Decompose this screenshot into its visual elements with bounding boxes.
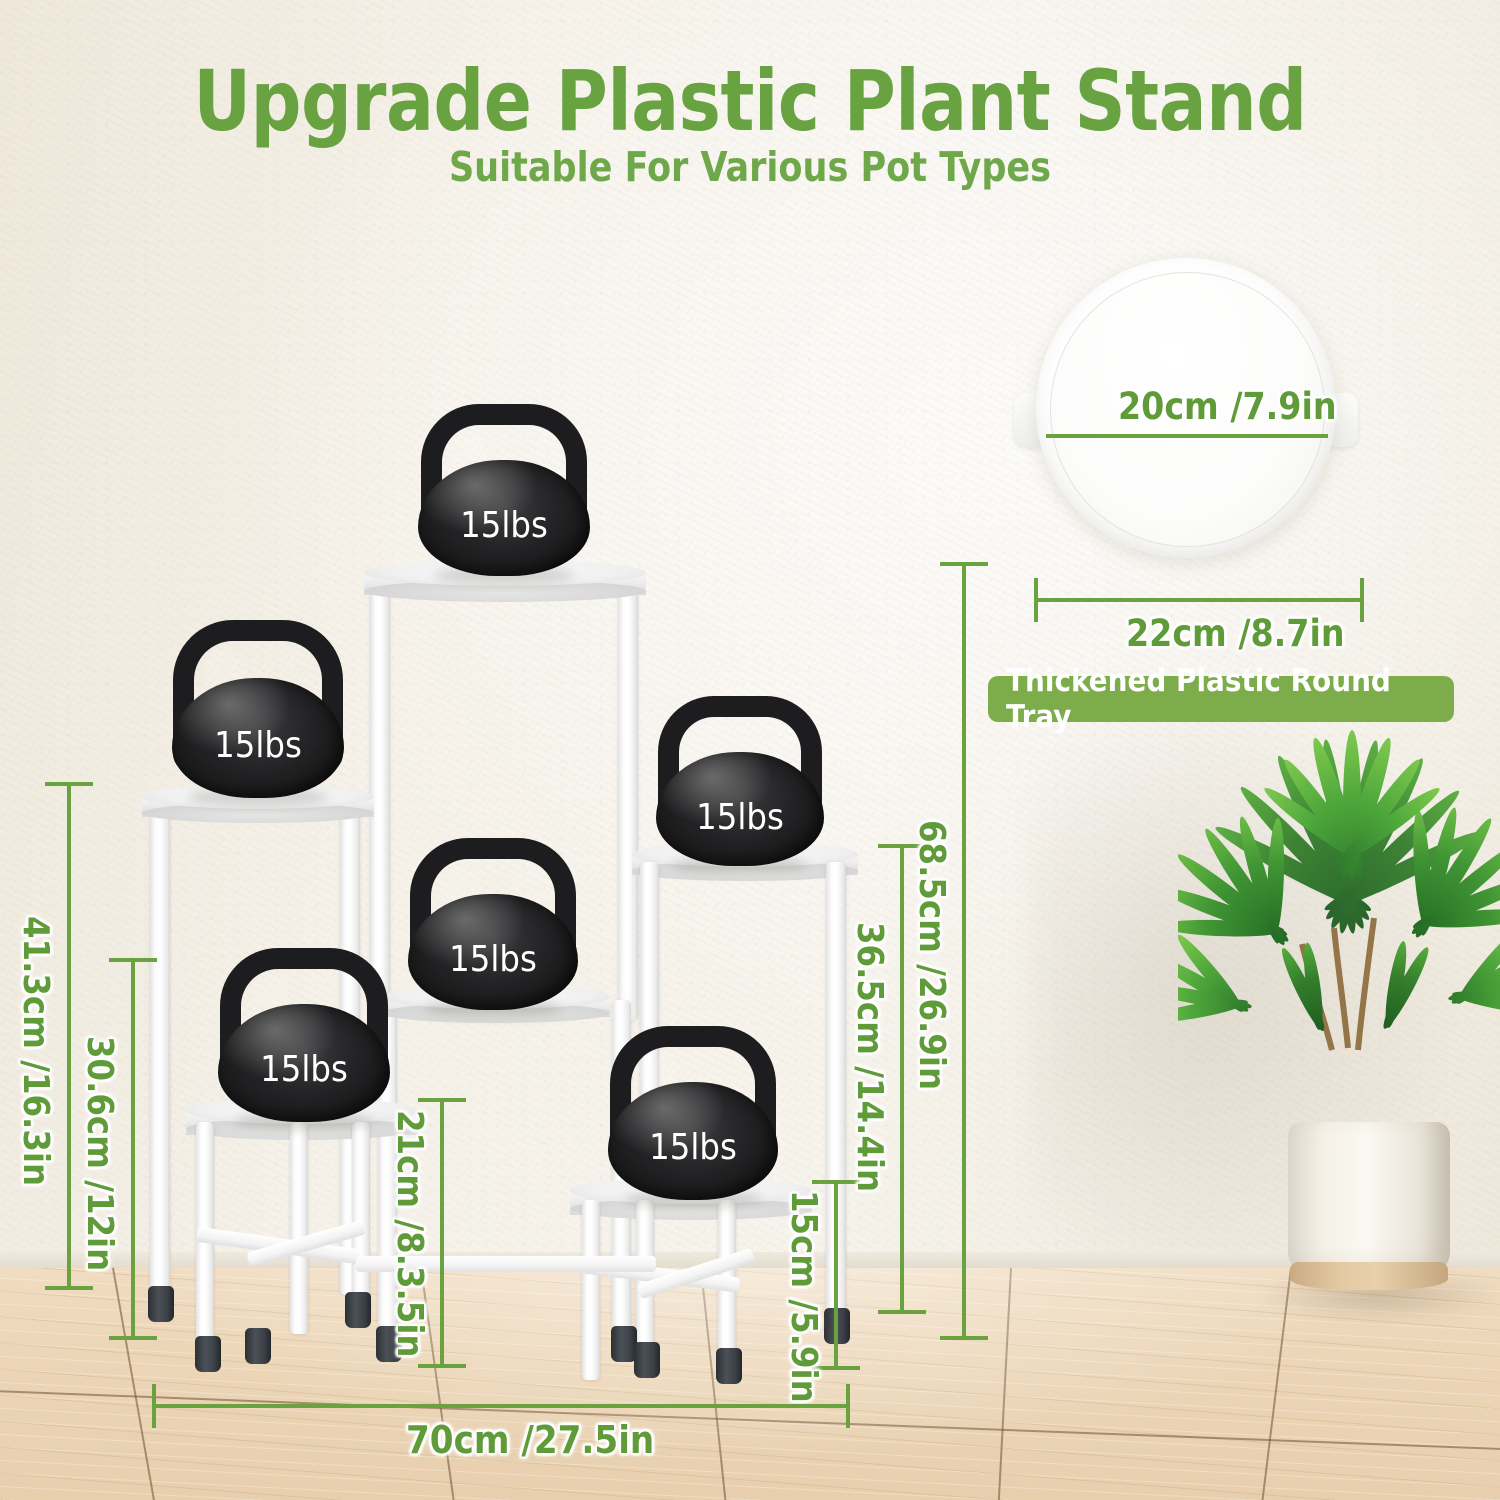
dim-line-right-upper bbox=[900, 844, 904, 1314]
kettlebell-top: 15lbs bbox=[418, 404, 590, 576]
dim-tick-left-outer-top bbox=[45, 782, 93, 786]
kettlebell-center-mid-label: 15lbs bbox=[408, 939, 578, 980]
dim-tick-total-height-bot bbox=[940, 1336, 988, 1340]
dim-line-left-inner bbox=[131, 958, 135, 1340]
kettlebell-right-mid-label: 15lbs bbox=[656, 797, 824, 838]
foot-right-b bbox=[716, 1348, 742, 1384]
dim-label-left-inner: 30.6cm /12in bbox=[79, 1036, 120, 1271]
dim-line-left-outer bbox=[67, 782, 71, 1290]
page-subtitle: Suitable For Various Pot Types bbox=[38, 143, 1463, 191]
dim-line-total-height bbox=[962, 562, 966, 1340]
foot-left-outer bbox=[148, 1286, 174, 1322]
kettlebell-left-lower-label: 15lbs bbox=[218, 1049, 390, 1090]
dim-tick-width-left bbox=[152, 1384, 156, 1428]
dim-tick-center-top bbox=[418, 1098, 466, 1102]
tray-outer-width-line bbox=[1034, 598, 1364, 602]
tray-width-tick-right bbox=[1360, 578, 1364, 622]
dim-tick-total-height-top bbox=[940, 562, 988, 566]
kettlebell-left-upper-label: 15lbs bbox=[172, 725, 344, 766]
tray-badge: Thickened Plastic Round Tray bbox=[988, 676, 1454, 722]
dim-line-center bbox=[440, 1098, 444, 1368]
dim-label-right-low: 15cm /5.9in bbox=[783, 1190, 824, 1403]
left-lower-post-b bbox=[290, 1122, 308, 1334]
center-post-right bbox=[618, 575, 638, 1020]
dim-tick-left-outer-bot bbox=[45, 1286, 93, 1290]
tray-width-tick-left bbox=[1034, 578, 1038, 622]
foot-left-a bbox=[195, 1336, 221, 1372]
product-infographic: Upgrade Plastic Plant Stand Suitable For… bbox=[0, 0, 1500, 1500]
dim-label-left-outer: 41.3cm /16.3in bbox=[15, 916, 56, 1186]
dim-tick-center-bot bbox=[418, 1364, 466, 1368]
dim-label-width: 70cm /27.5in bbox=[406, 1418, 654, 1462]
dim-tick-width-right bbox=[846, 1384, 850, 1428]
kettlebell-right-lower-label: 15lbs bbox=[608, 1127, 778, 1168]
tray-inner-diameter-label: 20cm /7.9in bbox=[1118, 385, 1337, 428]
dim-label-right-upper: 36.5cm /14.4in bbox=[849, 922, 890, 1192]
tray-badge-label: Thickened Plastic Round Tray bbox=[1006, 663, 1436, 735]
kettlebell-right-lower: 15lbs bbox=[608, 1026, 778, 1200]
dim-label-total-height: 68.5cm /26.9in bbox=[911, 820, 952, 1090]
kettlebell-center-mid: 15lbs bbox=[408, 838, 578, 1010]
page-title: Upgrade Plastic Plant Stand bbox=[45, 52, 1455, 150]
left-post-outer bbox=[150, 800, 170, 1290]
foot-right-a bbox=[634, 1342, 660, 1378]
dim-label-center: 21cm /8.3.5in bbox=[389, 1110, 430, 1357]
dim-tick-right-upper-bot bbox=[878, 1310, 926, 1314]
dim-line-width bbox=[152, 1404, 850, 1408]
dim-tick-left-inner-top bbox=[109, 958, 157, 962]
foot-left-c bbox=[345, 1292, 371, 1328]
right-lower-post-a bbox=[582, 1200, 600, 1380]
kettlebell-left-upper: 15lbs bbox=[172, 620, 344, 798]
kettlebell-top-label: 15lbs bbox=[418, 505, 590, 546]
foot-left-b bbox=[245, 1328, 271, 1364]
dim-line-right-low bbox=[834, 1180, 838, 1370]
tray-inner-diameter-line bbox=[1046, 434, 1328, 438]
plant-pot-base bbox=[1290, 1262, 1448, 1290]
plant-foliage bbox=[1178, 718, 1500, 1138]
kettlebell-left-lower: 15lbs bbox=[218, 948, 390, 1122]
kettlebell-right-mid: 15lbs bbox=[656, 696, 824, 866]
plant-pot bbox=[1288, 1122, 1450, 1274]
dim-tick-left-inner-bot bbox=[109, 1336, 157, 1340]
tray-outer-width-label: 22cm /8.7in bbox=[1126, 612, 1345, 655]
